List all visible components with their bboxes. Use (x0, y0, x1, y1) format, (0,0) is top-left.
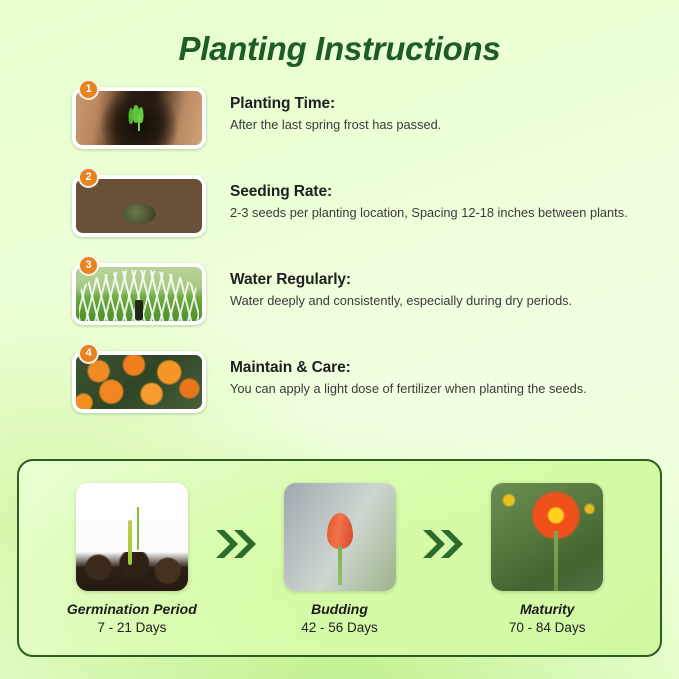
mature-orange-flower-photo (491, 483, 603, 591)
list-item: 4 Maintain & Care: You can apply a light… (72, 351, 645, 425)
step-title: Seeding Rate: (230, 183, 645, 201)
step-title: Water Regularly: (230, 271, 645, 289)
growth-timeline-panel: Germination Period 7 - 21 Days Budding 4… (17, 459, 662, 657)
step-title: Maintain & Care: (230, 359, 645, 377)
step-description: 2-3 seeds per planting location, Spacing… (230, 204, 642, 222)
step-number-badge: 4 (78, 343, 99, 364)
step-text: Water Regularly: Water deeply and consis… (230, 263, 645, 310)
soil-hands-illustration (76, 91, 202, 145)
step-thumbnail-wrap: 2 (72, 175, 210, 237)
list-item: 3 Water Regularly: Water deeply and cons… (72, 263, 645, 337)
flower-bud-photo (284, 483, 396, 591)
list-item: 1 Planting Time: After the last spring f… (72, 87, 645, 161)
step-title: Planting Time: (230, 95, 645, 113)
planting-instructions-infographic: Planting Instructions 1 Planting Time: A… (0, 0, 679, 679)
bud-illustration (284, 483, 396, 591)
step-text: Planting Time: After the last spring fro… (230, 87, 645, 134)
mature-flower-illustration (491, 483, 603, 591)
seed-hand-illustration (76, 179, 202, 233)
stage-days: 7 - 21 Days (55, 620, 209, 635)
stage-label: Maturity (470, 601, 624, 617)
step-description: After the last spring frost has passed. (230, 116, 642, 134)
stage-label: Budding (263, 601, 417, 617)
double-chevron-right-icon (209, 483, 263, 561)
page-title: Planting Instructions (0, 0, 679, 65)
step-text: Maintain & Care: You can apply a light d… (230, 351, 645, 398)
step-number-badge: 1 (78, 79, 99, 100)
double-chevron-right-icon (416, 483, 470, 561)
growth-stage-maturity: Maturity 70 - 84 Days (470, 483, 624, 635)
growth-stage-germination: Germination Period 7 - 21 Days (55, 483, 209, 635)
stage-days: 70 - 84 Days (470, 620, 624, 635)
step-description: Water deeply and consistently, especiall… (230, 292, 642, 310)
seed-sprout-in-soil-photo (76, 483, 188, 591)
steps-list: 1 Planting Time: After the last spring f… (0, 87, 679, 425)
step-thumbnail-wrap: 4 (72, 351, 210, 413)
orange-flowers-illustration (76, 355, 202, 409)
step-number-badge: 2 (78, 167, 99, 188)
growth-timeline-row: Germination Period 7 - 21 Days Budding 4… (19, 461, 660, 635)
stage-label: Germination Period (55, 601, 209, 617)
growth-stage-budding: Budding 42 - 56 Days (263, 483, 417, 635)
step-number-badge: 3 (78, 255, 99, 276)
step-text: Seeding Rate: 2-3 seeds per planting loc… (230, 175, 645, 222)
stage-days: 42 - 56 Days (263, 620, 417, 635)
step-thumbnail-wrap: 3 (72, 263, 210, 325)
step-description: You can apply a light dose of fertilizer… (230, 380, 642, 398)
step-thumbnail-wrap: 1 (72, 87, 210, 149)
sprout-illustration (76, 483, 188, 591)
list-item: 2 Seeding Rate: 2-3 seeds per planting l… (72, 175, 645, 249)
sprinkler-illustration (76, 267, 202, 321)
